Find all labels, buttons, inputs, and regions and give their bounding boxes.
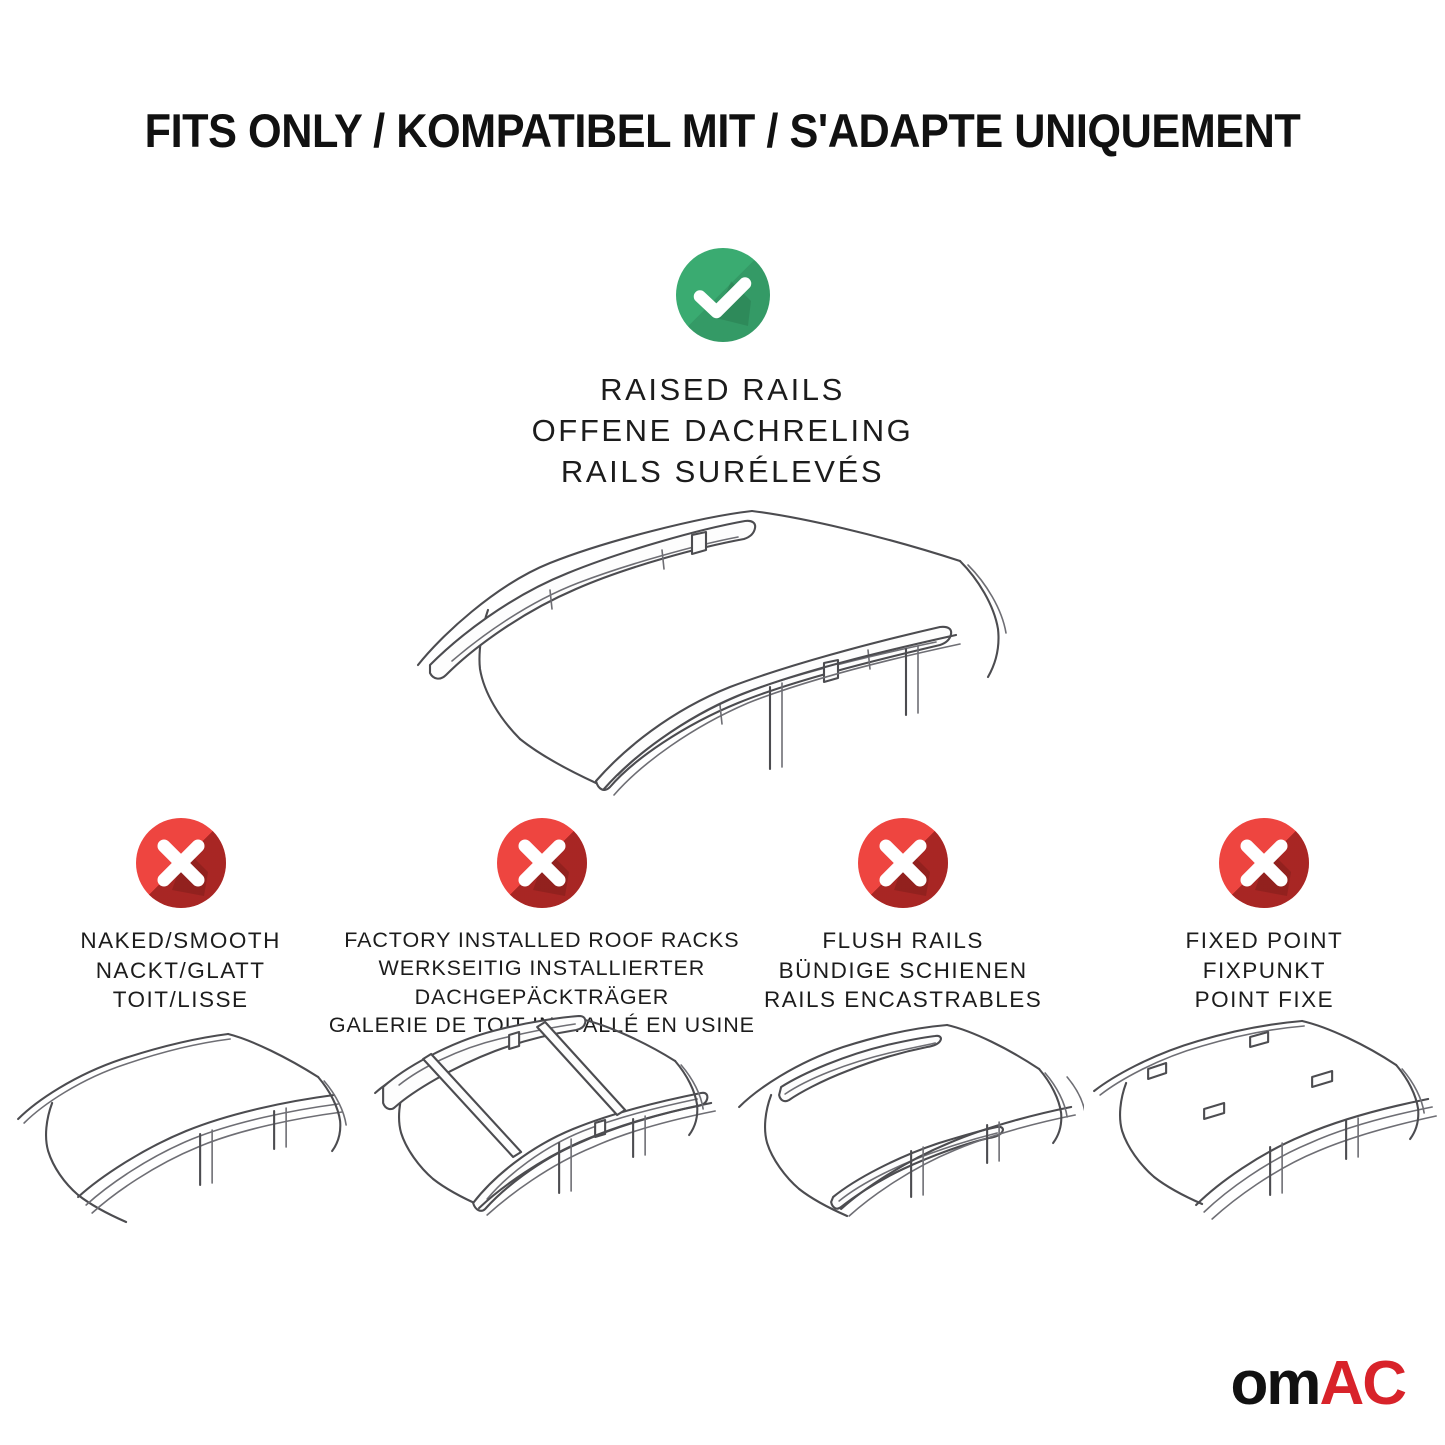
- label-line-de: BÜNDIGE SCHIENEN: [764, 956, 1042, 986]
- label-line-de: NACKT/GLATT: [80, 956, 281, 986]
- incompatible-illustrations: [0, 1015, 1445, 1245]
- car-roof-naked-smooth-illustration: [0, 1015, 361, 1245]
- car-roof-fixed-point-illustration: [1084, 1015, 1445, 1245]
- car-roof-factory-roof-racks-illustration: [361, 1015, 722, 1245]
- incompatible-column-factory-roof-racks: FACTORY INSTALLED ROOF RACKS WERKSEITIG …: [361, 818, 722, 1040]
- x-icon: [1219, 818, 1309, 908]
- label-line-fr: POINT FIXE: [1185, 985, 1343, 1015]
- x-icon: [858, 818, 948, 908]
- label-line-en: NAKED/SMOOTH: [80, 926, 281, 956]
- car-roof-raised-rails-illustration: [400, 487, 1045, 797]
- incompatible-label-naked-smooth: NAKED/SMOOTH NACKT/GLATT TOIT/LISSE: [80, 926, 281, 1015]
- incompatible-column-fixed-point: FIXED POINT FIXPUNKT POINT FIXE: [1084, 818, 1445, 1040]
- label-line-de-1: WERKSEITIG INSTALLIERTER: [329, 954, 755, 982]
- incompatible-label-fixed-point: FIXED POINT FIXPUNKT POINT FIXE: [1185, 926, 1343, 1015]
- x-icon: [136, 818, 226, 908]
- incompatible-column-naked-smooth: NAKED/SMOOTH NACKT/GLATT TOIT/LISSE: [0, 818, 361, 1040]
- label-line-de: FIXPUNKT: [1185, 956, 1343, 986]
- logo-text-om: om: [1230, 1349, 1319, 1418]
- car-roof-flush-rails-illustration: [723, 1015, 1084, 1245]
- compatible-section: RAISED RAILS OFFENE DACHRELING RAILS SUR…: [0, 248, 1445, 493]
- label-line-en: FIXED POINT: [1185, 926, 1343, 956]
- label-line-en: FLUSH RAILS: [764, 926, 1042, 956]
- incompatible-column-flush-rails: FLUSH RAILS BÜNDIGE SCHIENEN RAILS ENCAS…: [723, 818, 1084, 1040]
- incompatible-label-flush-rails: FLUSH RAILS BÜNDIGE SCHIENEN RAILS ENCAS…: [764, 926, 1042, 1015]
- page-title: FITS ONLY / KOMPATIBEL MIT / S'ADAPTE UN…: [58, 103, 1387, 158]
- label-line-fr: RAILS ENCASTRABLES: [764, 985, 1042, 1015]
- logo-text-ac: AC: [1319, 1349, 1405, 1418]
- label-line-de-2: DACHGEPÄCKTRÄGER: [329, 983, 755, 1011]
- compatible-label-line-en: RAISED RAILS: [0, 369, 1445, 410]
- compatible-label: RAISED RAILS OFFENE DACHRELING RAILS SUR…: [0, 369, 1445, 493]
- x-icon: [497, 818, 587, 908]
- incompatible-sections: NAKED/SMOOTH NACKT/GLATT TOIT/LISSE FACT…: [0, 818, 1445, 1040]
- compatible-label-line-de: OFFENE DACHRELING: [0, 410, 1445, 451]
- omac-logo: omAC: [1230, 1353, 1405, 1415]
- label-line-en: FACTORY INSTALLED ROOF RACKS: [329, 926, 755, 954]
- label-line-fr: TOIT/LISSE: [80, 985, 281, 1015]
- check-icon: [676, 248, 770, 342]
